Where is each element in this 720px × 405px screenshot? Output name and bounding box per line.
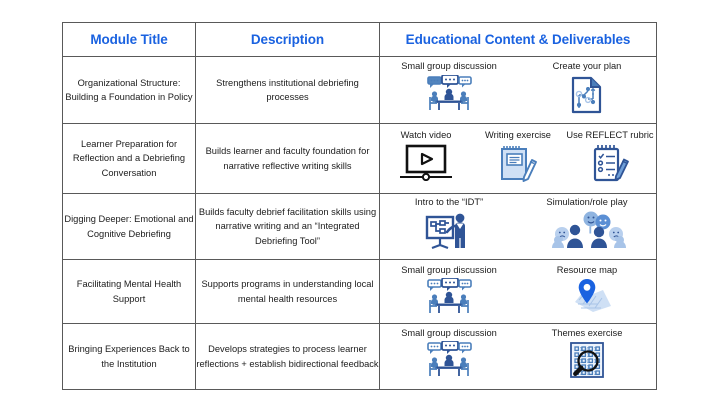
- deliverable-label: Writing exercise: [485, 129, 551, 141]
- module-description-cell: Supports programs in understanding local…: [196, 260, 380, 324]
- deliverable-label: Themes exercise: [552, 327, 623, 339]
- table-row: Digging Deeper: Emotional and Cognitive …: [63, 194, 657, 260]
- deliverable-item: Watch video: [380, 129, 472, 186]
- table-row: Facilitating Mental Health Support Suppo…: [63, 260, 657, 324]
- deliverable-item: Resource map: [518, 264, 656, 319]
- table-row: Learner Preparation for Reflection and a…: [63, 124, 657, 194]
- svg-text:0: 0: [587, 371, 590, 377]
- deliverable-item: Small group discussion: [380, 264, 518, 319]
- column-header-educational-content: Educational Content & Deliverables: [380, 23, 657, 57]
- presenter-whiteboard-icon: [422, 210, 476, 257]
- role-play-masks-icon: [544, 210, 630, 255]
- deliverable-label: Resource map: [557, 264, 617, 276]
- map-pin-icon: [561, 278, 613, 319]
- deliverable-label: Small group discussion: [401, 264, 497, 276]
- deliverable-label: Simulation/role play: [546, 196, 627, 208]
- module-description-cell: Develops strategies to process learner r…: [196, 324, 380, 390]
- writing-exercise-notebook-icon: [496, 143, 540, 188]
- deliverable-item: Writing exercise: [472, 129, 564, 188]
- slide-canvas: Module Title Description Educational Con…: [0, 0, 720, 405]
- module-deliverables-cell: Small group discussion: [380, 260, 657, 324]
- deliverable-item: Intro to the “IDT”: [380, 196, 518, 257]
- deliverable-label: Intro to the “IDT”: [415, 196, 483, 208]
- module-title-cell: Facilitating Mental Health Support: [63, 260, 196, 324]
- deliverable-label: Watch video: [401, 129, 452, 141]
- module-deliverables-cell: Small group discussion: [380, 57, 657, 124]
- table-header-row: Module Title Description Educational Con…: [63, 23, 657, 57]
- deliverable-item: Themes exercise: [518, 327, 656, 386]
- deliverable-item: Simulation/role play: [518, 196, 656, 255]
- deliverable-item: Use REFLECT rubric: [564, 129, 656, 188]
- column-header-description: Description: [196, 23, 380, 57]
- watch-video-icon: [396, 143, 456, 186]
- module-deliverables-cell: Watch video Writing: [380, 124, 657, 194]
- module-title-cell: Bringing Experiences Back to the Institu…: [63, 324, 196, 390]
- svg-text:1: 1: [594, 371, 597, 377]
- module-description-cell: Builds learner and faculty foundation fo…: [196, 124, 380, 194]
- small-group-discussion-icon: [418, 75, 480, 116]
- deliverable-item: Create your plan: [518, 60, 656, 119]
- deliverable-item: Small group discussion: [380, 60, 518, 115]
- reflect-rubric-checklist-icon: [589, 143, 631, 188]
- module-deliverables-cell: Intro to the “IDT”: [380, 194, 657, 260]
- module-deliverables-cell: Small group discussion: [380, 324, 657, 390]
- deliverable-label: Create your plan: [553, 60, 622, 72]
- column-header-module-title: Module Title: [63, 23, 196, 57]
- table-row: Organizational Structure: Building a Fou…: [63, 57, 657, 124]
- deliverable-item: Small group discussion: [380, 327, 518, 382]
- module-description-cell: Strengthens institutional debriefing pro…: [196, 57, 380, 124]
- small-group-discussion-icon: [418, 278, 480, 319]
- module-overview-table: Module Title Description Educational Con…: [62, 22, 657, 390]
- create-your-plan-document-icon: [567, 75, 607, 120]
- module-description-cell: Builds faculty debrief facilitation skil…: [196, 194, 380, 260]
- small-group-discussion-icon: [418, 341, 480, 382]
- module-title-cell: Organizational Structure: Building a Fou…: [63, 57, 196, 124]
- deliverable-label: Small group discussion: [401, 60, 497, 72]
- deliverable-label: Small group discussion: [401, 327, 497, 339]
- deliverable-label: Use REFLECT rubric: [566, 129, 653, 141]
- module-title-cell: Learner Preparation for Reflection and a…: [63, 124, 196, 194]
- module-title-cell: Digging Deeper: Emotional and Cognitive …: [63, 194, 196, 260]
- magnifier-data-icon: 101 010 101 010 101: [564, 341, 610, 386]
- table-row: Bringing Experiences Back to the Institu…: [63, 324, 657, 390]
